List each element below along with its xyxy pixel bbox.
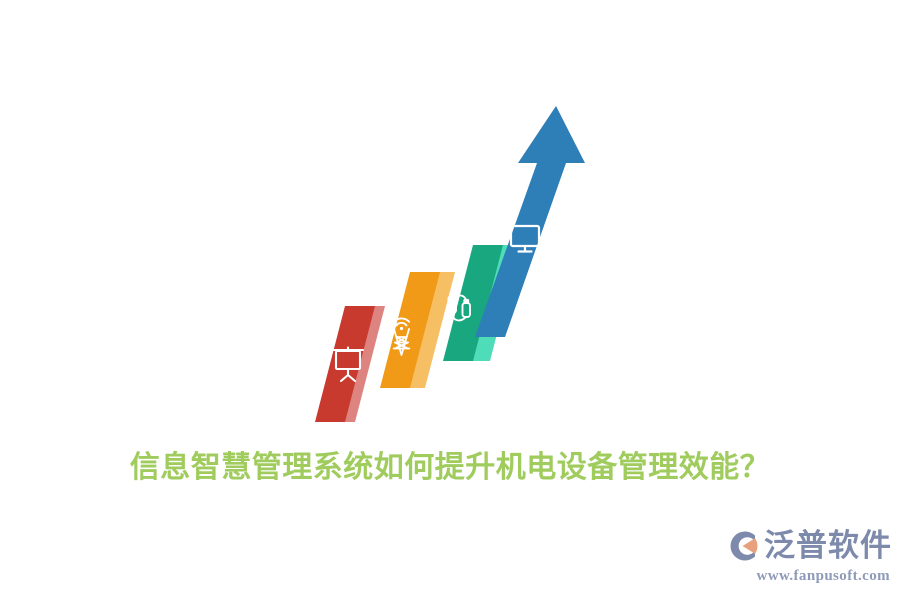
page-title: 信息智慧管理系统如何提升机电设备管理效能？: [0, 447, 900, 489]
step-block-4-arrow: [475, 106, 585, 337]
brand-url: www.fanpusoft.com: [662, 566, 892, 586]
brand-row: 泛普软件: [662, 526, 892, 566]
fanpu-logo-icon: [724, 528, 760, 564]
brand-watermark: 泛普软件 www.fanpusoft.com: [662, 526, 892, 588]
step-block-1: [315, 306, 385, 422]
page-canvas: 信息智慧管理系统如何提升机电设备管理效能？ 泛普软件 www.fanpusoft…: [0, 0, 900, 600]
brand-name: 泛普软件: [764, 528, 892, 564]
growth-arrow-infographic: [0, 0, 900, 440]
step-block-2: [380, 272, 455, 388]
arrow-shaft-and-head: [475, 106, 585, 337]
